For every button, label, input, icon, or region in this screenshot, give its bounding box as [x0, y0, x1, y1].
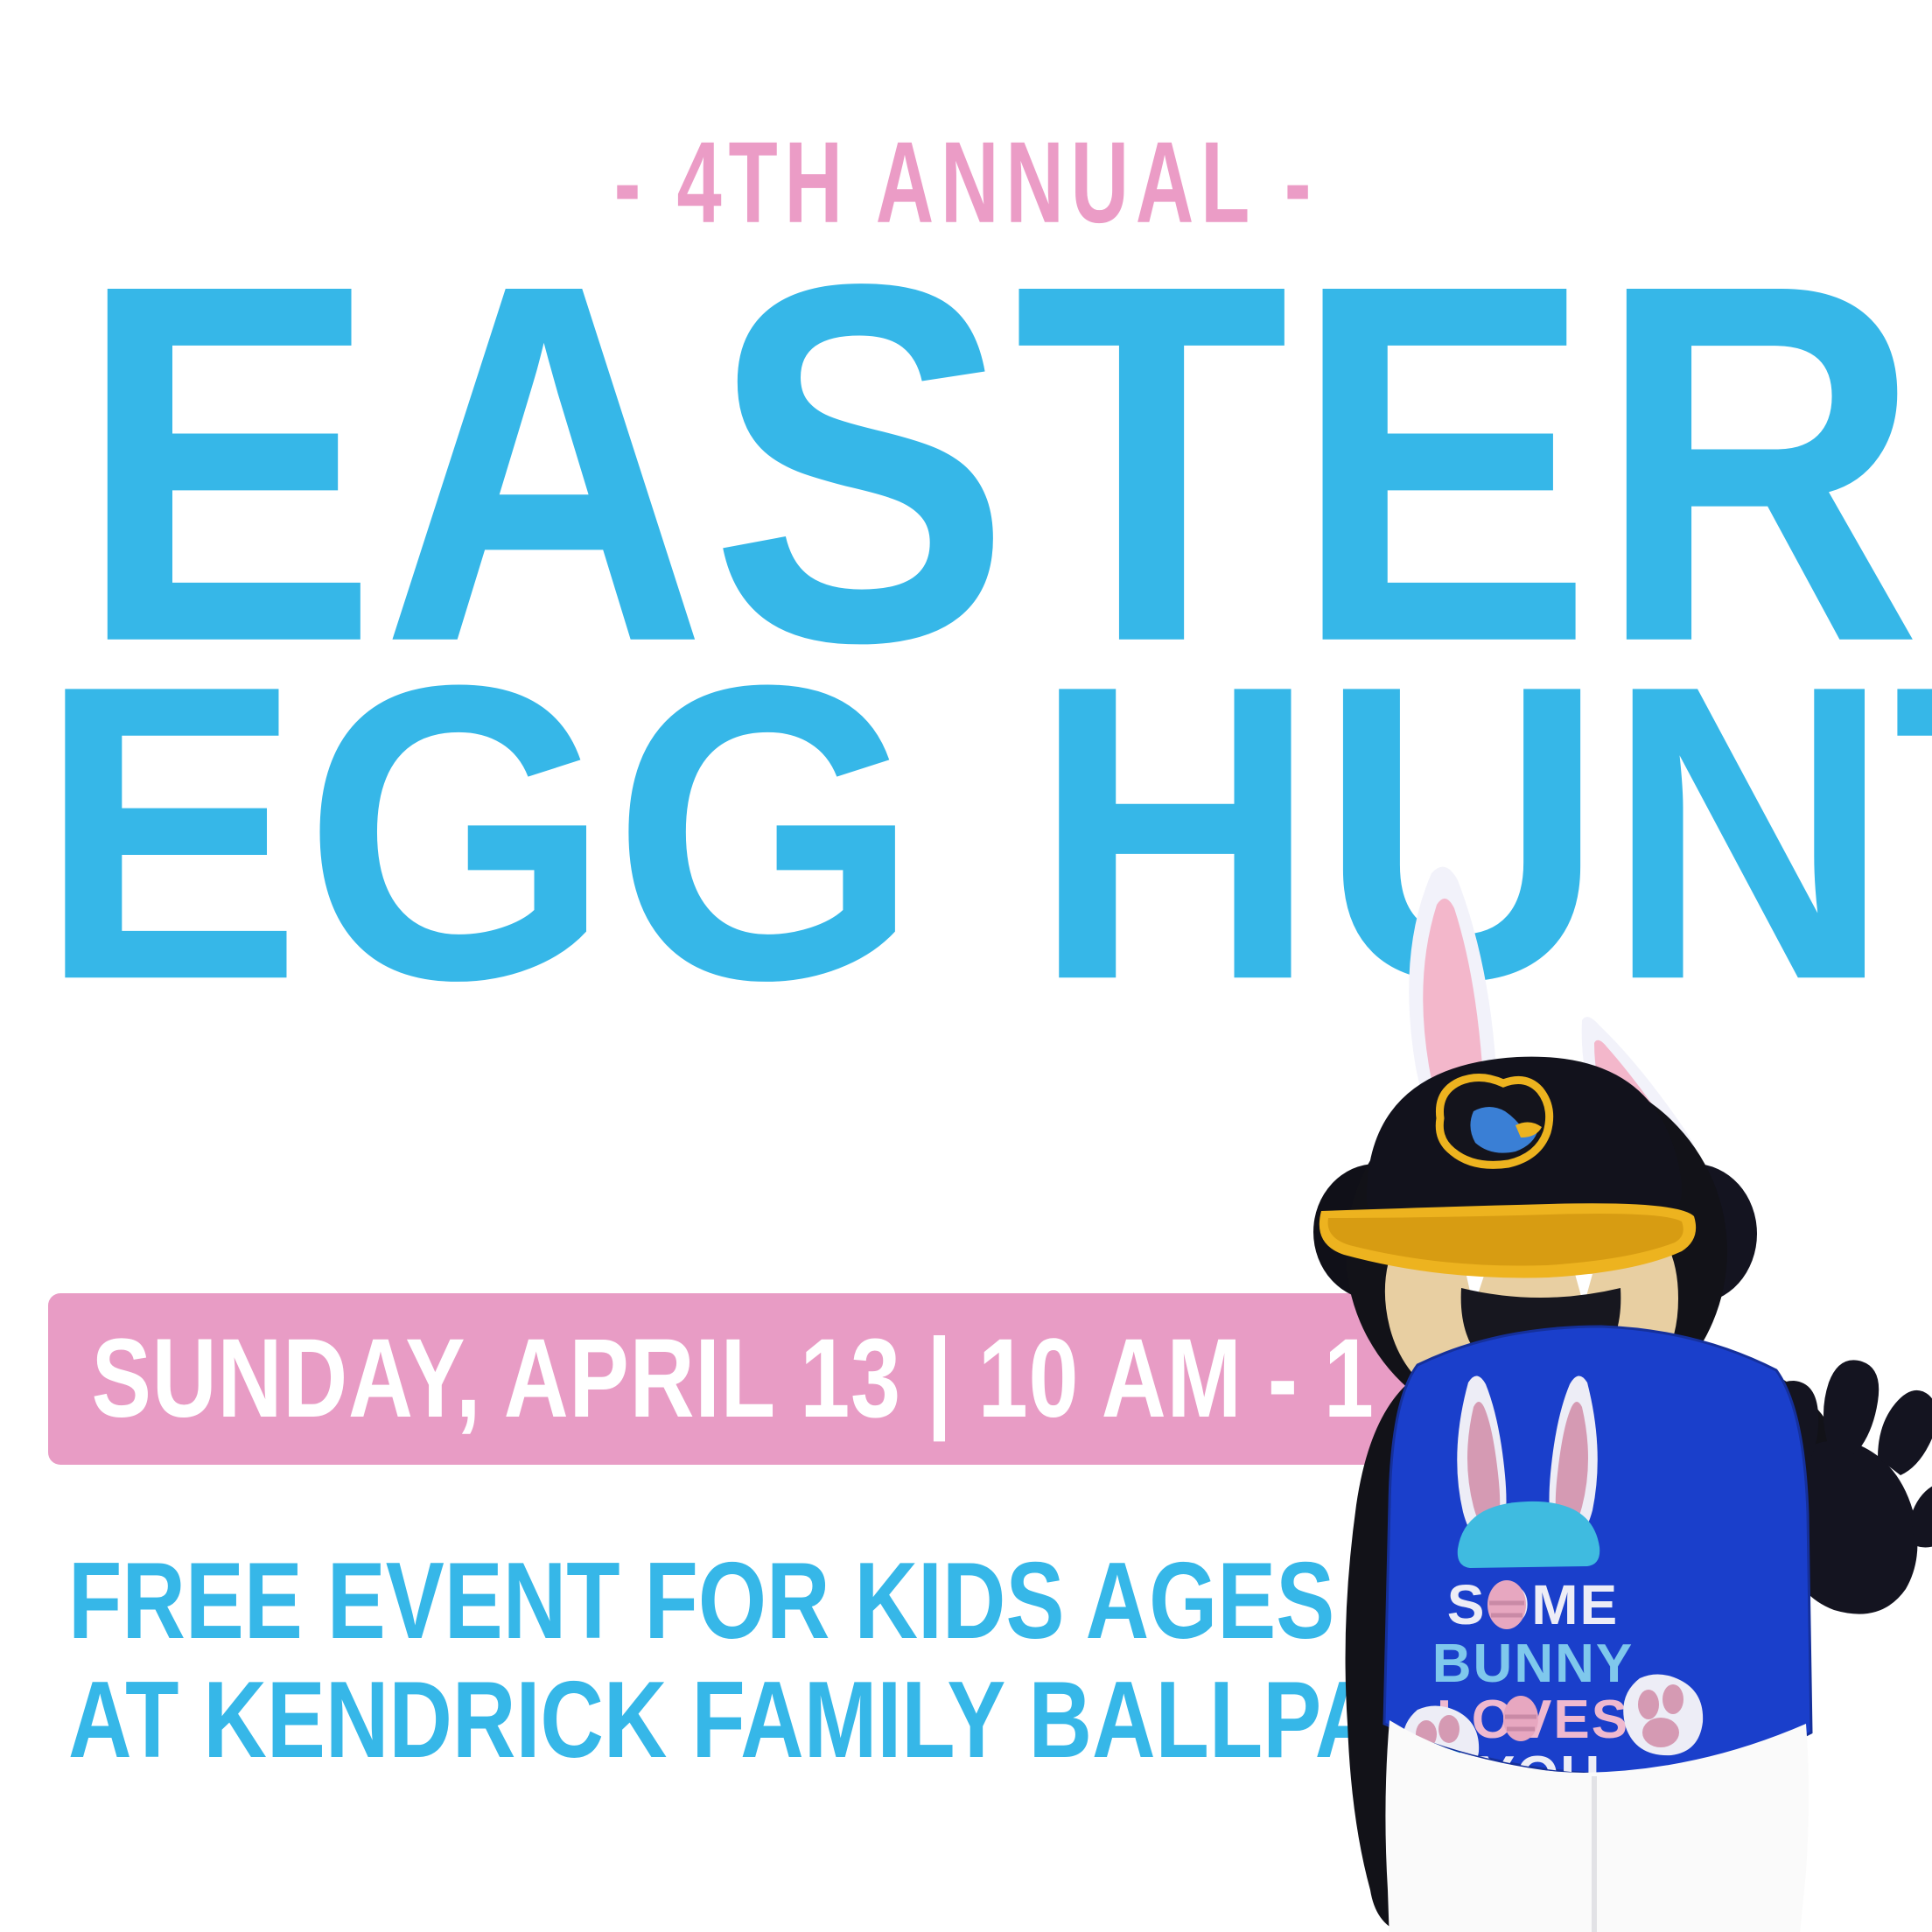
bear-mascot-image: SOME BUNNY LOVES YOU — [1286, 840, 1932, 1932]
easter-egg-hunt-poster: - 4TH ANNUAL - EASTER EGG HUNT SUNDAY, A… — [0, 0, 1932, 1932]
tshirt-print-line-2: BUNNY — [1432, 1634, 1634, 1694]
date-time-banner: SUNDAY, APRIL 13 | 10 AM - 1 PM — [48, 1293, 1406, 1465]
cap-bear-logo-icon — [1439, 1077, 1549, 1165]
mascot-tshirt: SOME BUNNY LOVES YOU — [1384, 1326, 1811, 1806]
tshirt-print-line-1: SOME — [1447, 1573, 1619, 1636]
